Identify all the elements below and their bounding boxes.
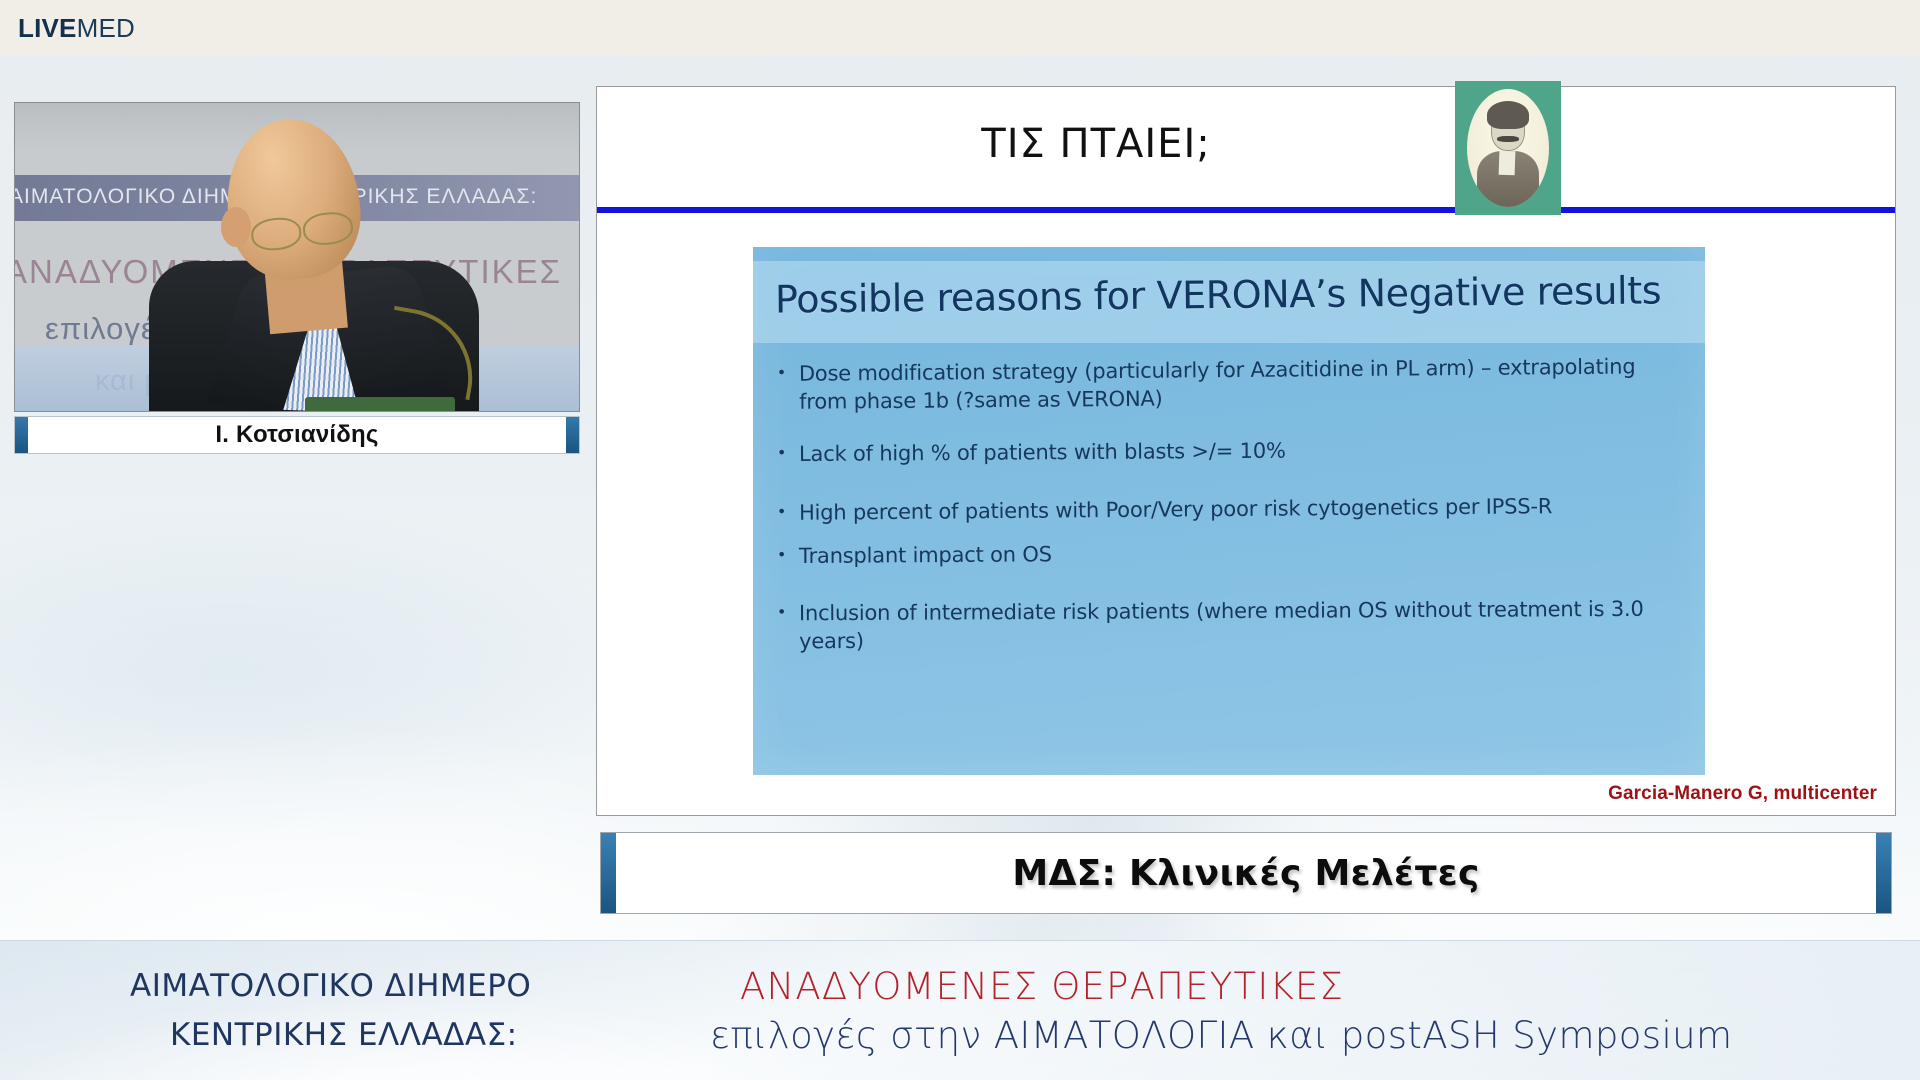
bullet-marker-icon: • [777, 600, 799, 656]
portrait-badge [1455, 81, 1561, 215]
list-item: • Inclusion of intermediate risk patient… [777, 595, 1689, 655]
footer-left-line-2: ΚΕΝΤΡΙΚΗΣ ΕΛΛΑΔΑΣ: [110, 1017, 710, 1053]
bullet-text: Dose modification strategy (particularly… [799, 353, 1689, 416]
site-header: LIVEMED [0, 0, 1920, 56]
portrait-collar [1499, 151, 1516, 176]
bullet-marker-icon: • [777, 500, 799, 528]
livemed-logo[interactable]: LIVEMED [18, 15, 135, 41]
speaker-name: Ι. Κοτσιανίδης [215, 421, 378, 449]
bullet-text: Transplant impact on OS [799, 537, 1689, 571]
bullet-marker-icon: • [777, 441, 799, 469]
list-item: • Transplant impact on OS [777, 537, 1689, 571]
bullet-marker-icon: • [777, 543, 799, 571]
slide-citation: Garcia-Manero G, multicenter [1608, 783, 1877, 805]
event-footer: ΑΙΜΑΤΟΛΟΓΙΚΟ ΔΙΗΜΕΡΟ ΑΝΑΔΥΟΜΕΝΕΣ ΘΕΡΑΠΕΥ… [0, 940, 1920, 1080]
bullet-text: Lack of high % of patients with blasts >… [799, 435, 1689, 469]
list-item: • Lack of high % of patients with blasts… [777, 435, 1689, 469]
photo-slide-bullet-list: • Dose modification strategy (particular… [777, 357, 1689, 679]
footer-right-line-1: ΑΝΑΔΥΟΜΕΝΕΣ ΘΕΡΑΠΕΥΤΙΚΕΣ [710, 965, 1860, 1008]
bullet-marker-icon: • [777, 361, 799, 417]
bullet-text: Inclusion of intermediate risk patients … [799, 595, 1689, 655]
portrait-hair [1487, 101, 1529, 129]
photo-slide-title: Possible reasons for VERONA’s Negative r… [775, 268, 1662, 321]
laptop-edge [305, 397, 455, 412]
bullet-text: High percent of patients with Poor/Very … [799, 492, 1689, 527]
portrait-moustache [1497, 136, 1519, 142]
speaker-ear [221, 207, 251, 247]
session-title: ΜΔΣ: Κλινικές Μελέτες [1012, 853, 1479, 894]
speaker-head [219, 113, 367, 286]
logo-primary-text: LIVE [18, 13, 77, 43]
slide-title-row: ΤΙΣ ΠΤΑΙΕΙ; [597, 87, 1895, 207]
list-item: • Dose modification strategy (particular… [777, 353, 1689, 416]
session-title-banner: ΜΔΣ: Κλινικές Μελέτες [600, 832, 1892, 914]
footer-left-line-1: ΑΙΜΑΤΟΛΟΓΙΚΟ ΔΙΗΜΕΡΟ [110, 968, 710, 1004]
slide-title: ΤΙΣ ΠΤΑΙΕΙ; [597, 121, 1895, 167]
slide-divider-rule [597, 207, 1895, 213]
logo-secondary-text: MED [77, 13, 135, 43]
speaker-panel[interactable]: ΑΙΜΑΤΟΛΟΓΙΚΟ ΔΙΗΜΕΡΟ ΚΕΝΤΡΙΚΗΣ ΕΛΛΑΔΑΣ: … [14, 102, 580, 454]
speaker-video-feed[interactable]: ΑΙΜΑΤΟΛΟΓΙΚΟ ΔΙΗΜΕΡΟ ΚΕΝΤΡΙΚΗΣ ΕΛΛΑΔΑΣ: … [14, 102, 580, 412]
photographed-slide: Possible reasons for VERONA’s Negative r… [753, 247, 1705, 775]
speaker-figure [155, 111, 475, 411]
presentation-slide[interactable]: ΤΙΣ ΠΤΑΙΕΙ; Possible reasons for VERONA’… [596, 86, 1896, 816]
footer-grid: ΑΙΜΑΤΟΛΟΓΙΚΟ ΔΙΗΜΕΡΟ ΑΝΑΔΥΟΜΕΝΕΣ ΘΕΡΑΠΕΥ… [0, 965, 1920, 1057]
footer-right-line-2: επιλογές στην ΑΙΜΑΤΟΛΟΓΙΑ και postASH Sy… [710, 1014, 1860, 1057]
list-item: • High percent of patients with Poor/Ver… [777, 492, 1689, 528]
portrait-sketch-icon [1467, 89, 1549, 207]
speaker-name-plate: Ι. Κοτσιανίδης [14, 416, 580, 454]
